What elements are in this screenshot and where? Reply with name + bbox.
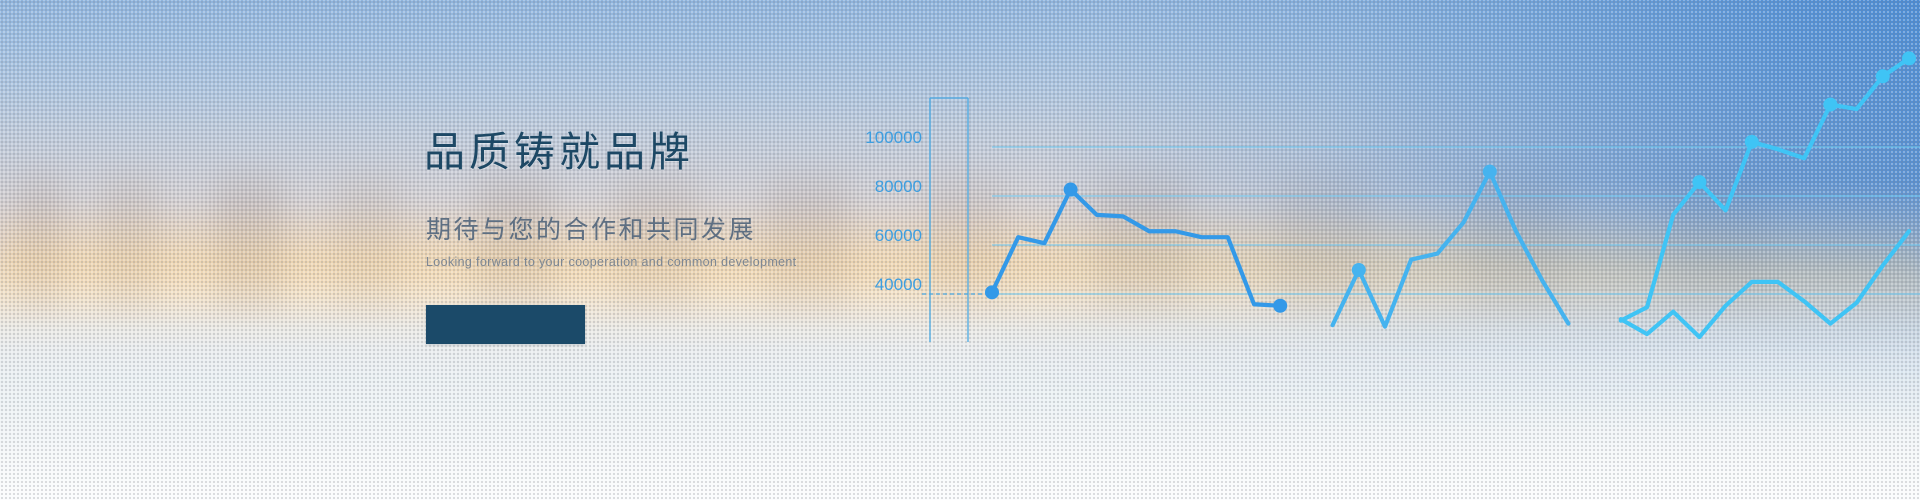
y-tick-100000: 100000	[865, 128, 922, 147]
banner-copy-block: 品质铸就品牌 期待与您的合作和共同发展 Looking forward to y…	[424, 128, 824, 269]
banner-cta-button[interactable]	[426, 305, 585, 344]
chart-line-segment-2	[1333, 172, 1569, 327]
y-tick-80000: 80000	[875, 177, 922, 196]
y-tick-60000: 60000	[875, 226, 922, 245]
chart-point-marker[interactable]	[1823, 98, 1837, 112]
chart-point-marker[interactable]	[1064, 183, 1078, 197]
banner-headline: 品质铸就品牌	[424, 128, 824, 176]
chart-point-marker[interactable]	[1692, 175, 1706, 189]
chart-marker-layer	[985, 51, 1916, 312]
banner-subheadline: 期待与您的合作和共同发展	[426, 210, 824, 246]
y-tick-40000: 40000	[875, 275, 922, 294]
hero-banner: 品质铸就品牌 期待与您的合作和共同发展 Looking forward to y…	[0, 0, 1920, 500]
chart-point-marker[interactable]	[1352, 263, 1366, 277]
chart-line-segment-1	[992, 190, 1280, 306]
chart-point-marker[interactable]	[1483, 165, 1497, 179]
chart-point-marker[interactable]	[1273, 299, 1287, 313]
line-chart: 100000 80000 60000 40000	[900, 0, 1920, 500]
chart-point-marker[interactable]	[1876, 69, 1890, 83]
chart-point-marker[interactable]	[1902, 51, 1916, 65]
chart-axis-lines	[930, 98, 968, 342]
chart-point-marker[interactable]	[985, 285, 999, 299]
chart-point-marker[interactable]	[1745, 135, 1759, 149]
chart-series-layer	[992, 58, 1909, 337]
banner-tagline: Looking forward to your cooperation and …	[426, 255, 824, 269]
